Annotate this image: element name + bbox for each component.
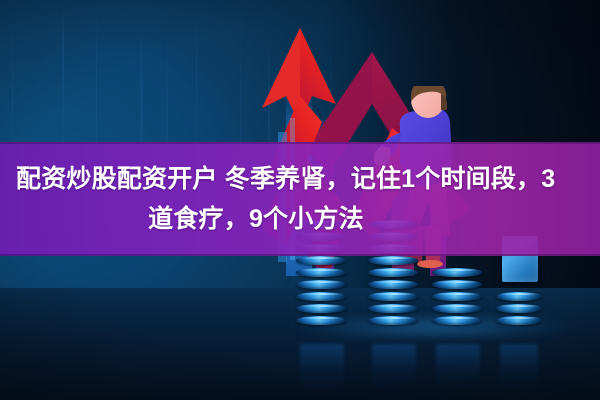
promo-banner: 配资炒股配资开户 冬季养肾，记住1个时间段，3 道食疗，9个小方法 [0,0,600,400]
headline-line-1: 配资炒股配资开户 冬季养肾，记住1个时间段，3 [16,159,555,199]
headline-line-2: 道食疗，9个小方法 [148,199,364,239]
headline-text-block: 配资炒股配资开户 冬季养肾，记住1个时间段，3 道食疗，9个小方法 [0,142,600,256]
